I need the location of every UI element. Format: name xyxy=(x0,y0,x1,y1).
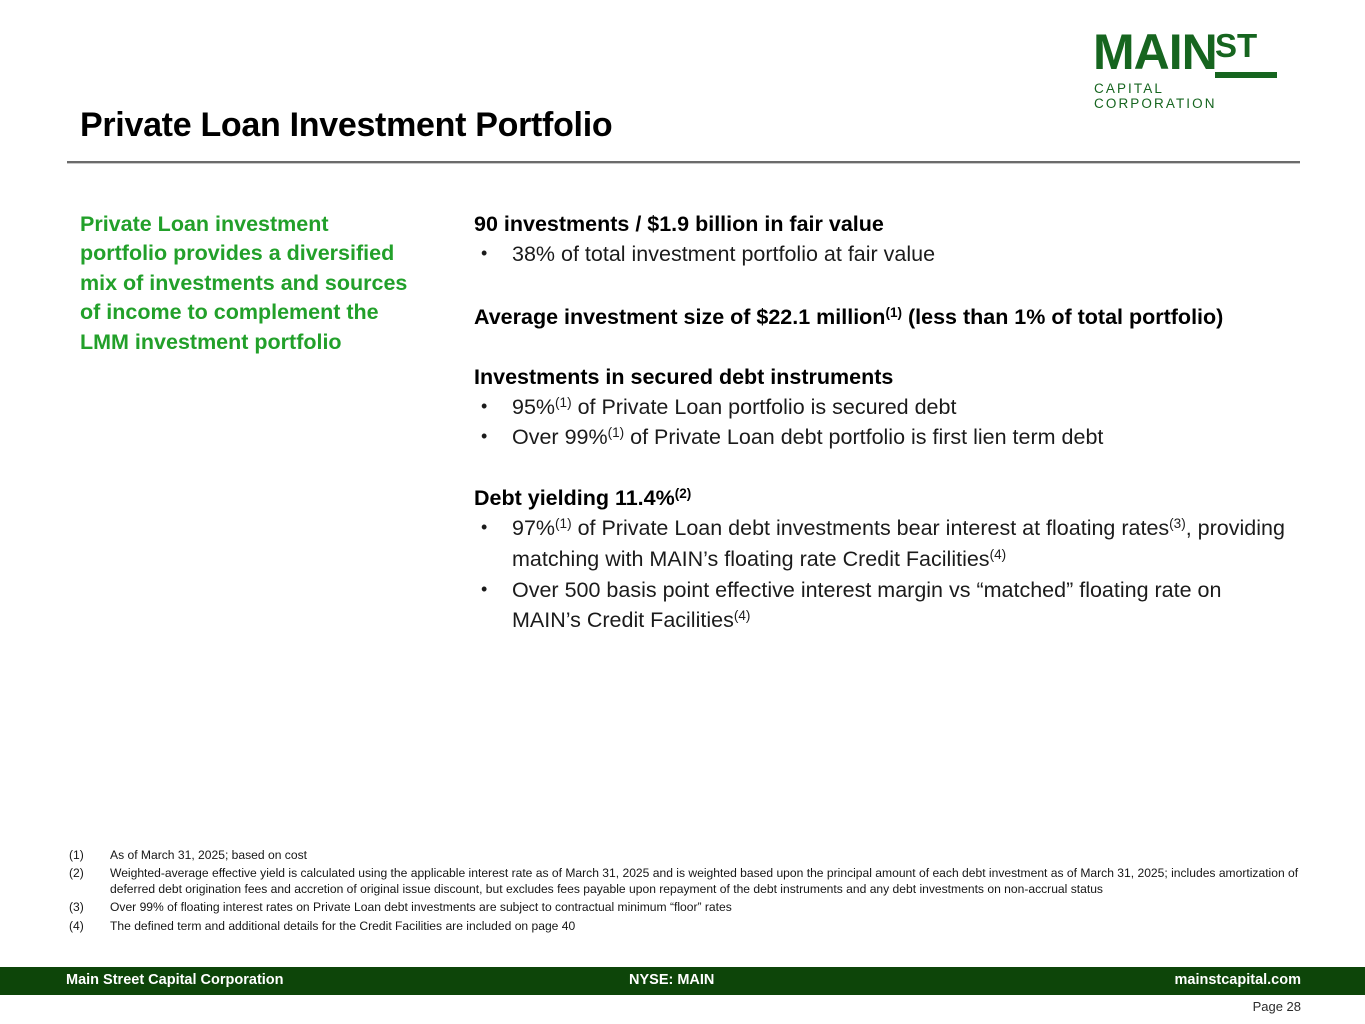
footnote-text: The defined term and additional details … xyxy=(110,919,575,933)
page-title: Private Loan Investment Portfolio xyxy=(80,106,612,145)
footnote-number: (2) xyxy=(69,866,84,881)
block-heading: Average investment size of $22.1 million… xyxy=(474,302,1289,332)
bullet-list: 38% of total investment portfolio at fai… xyxy=(474,239,1289,270)
bullet-list: 95%(1) of Private Loan portfolio is secu… xyxy=(474,392,1289,453)
content-block-average-size: Average investment size of $22.1 million… xyxy=(474,302,1289,332)
footnote-4: (4) The defined term and additional deta… xyxy=(69,919,1304,934)
list-item: 38% of total investment portfolio at fai… xyxy=(474,239,1289,270)
block-heading: Debt yielding 11.4%(2) xyxy=(474,483,1289,513)
list-item: Over 500 basis point effective interest … xyxy=(474,575,1289,636)
footnote-text: Over 99% of floating interest rates on P… xyxy=(110,900,732,914)
footnotes: (1) As of March 31, 2025; based on cost … xyxy=(69,848,1304,937)
bullet-list: 97%(1) of Private Loan debt investments … xyxy=(474,513,1289,636)
page-number: Page 28 xyxy=(1253,999,1301,1014)
list-item: Over 99%(1) of Private Loan debt portfol… xyxy=(474,422,1289,453)
list-item: 95%(1) of Private Loan portfolio is secu… xyxy=(474,392,1289,423)
main-content: 90 investments / $1.9 billion in fair va… xyxy=(474,209,1289,636)
footnote-number: (1) xyxy=(69,848,84,863)
spacer xyxy=(474,270,1289,302)
logo-subtitle: CAPITAL CORPORATION xyxy=(1094,81,1288,111)
logo-wordmark: MAIN xyxy=(1093,26,1217,78)
spacer xyxy=(474,332,1289,362)
logo-st-superscript: ST xyxy=(1215,29,1257,63)
footnote-text: Weighted-average effective yield is calc… xyxy=(110,866,1298,895)
footnote-3: (3) Over 99% of floating interest rates … xyxy=(69,900,1304,915)
footer-website[interactable]: mainstcapital.com xyxy=(1174,972,1301,988)
footer-bar: Main Street Capital Corporation NYSE: MA… xyxy=(0,967,1365,995)
title-divider xyxy=(67,161,1300,164)
content-block-secured-debt: Investments in secured debt instruments … xyxy=(474,362,1289,453)
company-logo: MAIN ST CAPITAL CORPORATION xyxy=(1093,26,1288,98)
slide: MAIN ST CAPITAL CORPORATION Private Loan… xyxy=(0,0,1365,1024)
footnote-number: (3) xyxy=(69,900,84,915)
footer-company-name: Main Street Capital Corporation xyxy=(66,972,284,988)
footnote-text: As of March 31, 2025; based on cost xyxy=(110,848,307,862)
block-heading: 90 investments / $1.9 billion in fair va… xyxy=(474,209,1289,239)
callout-text: Private Loan investment portfolio provid… xyxy=(80,210,410,357)
footer-ticker: NYSE: MAIN xyxy=(629,972,714,988)
logo-underline-rule xyxy=(1215,72,1277,78)
footnote-1: (1) As of March 31, 2025; based on cost xyxy=(69,848,1304,863)
footnote-2: (2) Weighted-average effective yield is … xyxy=(69,866,1304,897)
block-heading: Investments in secured debt instruments xyxy=(474,362,1289,392)
list-item: 97%(1) of Private Loan debt investments … xyxy=(474,513,1289,574)
spacer xyxy=(474,453,1289,483)
content-block-investments: 90 investments / $1.9 billion in fair va… xyxy=(474,209,1289,270)
content-block-debt-yield: Debt yielding 11.4%(2) 97%(1) of Private… xyxy=(474,483,1289,636)
footnote-number: (4) xyxy=(69,919,84,934)
